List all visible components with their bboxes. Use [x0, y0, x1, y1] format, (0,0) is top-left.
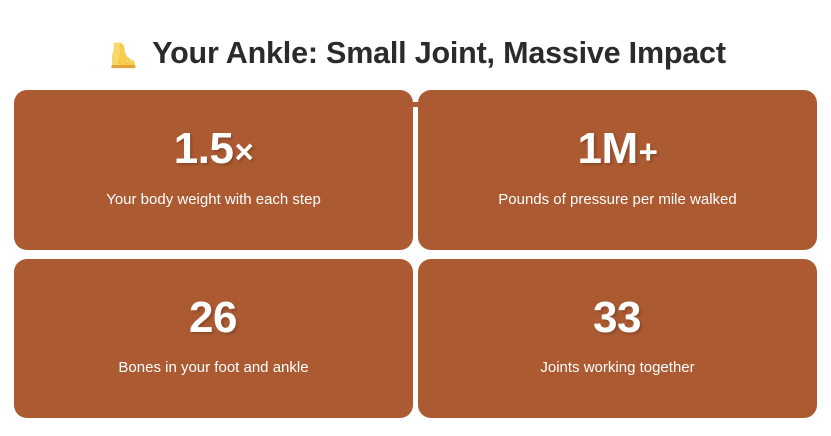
- stat-card-pressure: 1M+ Pounds of pressure per mile walked: [418, 90, 817, 250]
- stat-label: Your body weight with each step: [106, 190, 321, 210]
- ankle-stats-infographic: Your Ankle: Small Joint, Massive Impact …: [0, 0, 831, 436]
- stat-card-joints: 33 Joints working together: [418, 259, 817, 419]
- stat-value: 33: [593, 295, 642, 341]
- stat-value-number: 33: [593, 295, 641, 341]
- stat-value-number: 1M: [578, 126, 638, 172]
- header-title-row: Your Ankle: Small Joint, Massive Impact: [0, 18, 831, 89]
- stats-grid: 1.5× Your body weight with each step 1M+…: [14, 90, 817, 418]
- stat-value: 1M+: [578, 126, 658, 172]
- stat-card-body-weight: 1.5× Your body weight with each step: [14, 90, 413, 250]
- page-title: Your Ankle: Small Joint, Massive Impact: [152, 38, 726, 69]
- stat-label: Bones in your foot and ankle: [118, 358, 308, 378]
- stat-label: Joints working together: [540, 358, 694, 378]
- stat-value: 1.5×: [174, 126, 253, 172]
- stat-label: Pounds of pressure per mile walked: [498, 190, 736, 210]
- stat-value-number: 26: [189, 295, 237, 341]
- stat-value-suffix: +: [639, 135, 658, 170]
- stat-value: 26: [189, 295, 238, 341]
- boot-icon: [105, 37, 141, 73]
- stat-card-bones: 26 Bones in your foot and ankle: [14, 259, 413, 419]
- stat-value-suffix: ×: [234, 135, 253, 170]
- stat-value-number: 1.5: [174, 126, 234, 172]
